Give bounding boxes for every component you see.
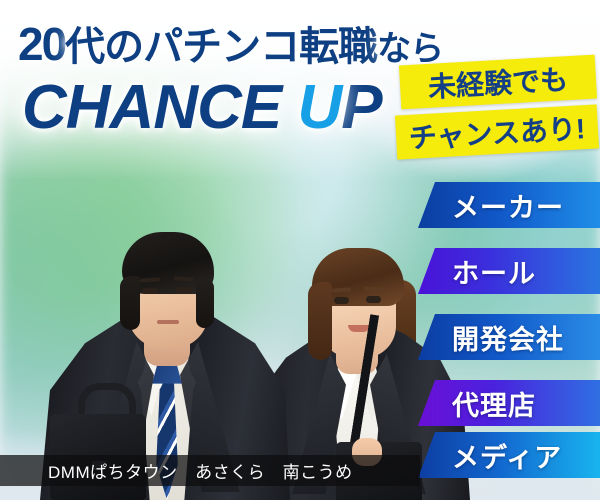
category-button-maker[interactable]: メーカー [418, 182, 600, 228]
category-label-maker: メーカー [452, 186, 564, 225]
category-label-agency: 代理店 [452, 384, 536, 423]
category-button-hall[interactable]: ホール [418, 248, 600, 294]
category-button-list: メーカー ホール 開発会社 代理店 メディア [0, 0, 600, 500]
category-button-developer[interactable]: 開発会社 [418, 314, 600, 360]
category-label-developer: 開発会社 [452, 318, 564, 357]
caption-text: DMMぱちタウン あさくら 南こうめ [48, 458, 353, 483]
category-button-agency[interactable]: 代理店 [418, 380, 600, 426]
category-label-hall: ホール [452, 252, 536, 291]
category-button-media[interactable]: メディア [418, 432, 600, 478]
ad-banner[interactable]: 20代のパチンコ転職なら CHANCE UP 未経験でも チャンスあり! メーカ… [0, 0, 600, 500]
category-label-media: メディア [452, 436, 562, 475]
